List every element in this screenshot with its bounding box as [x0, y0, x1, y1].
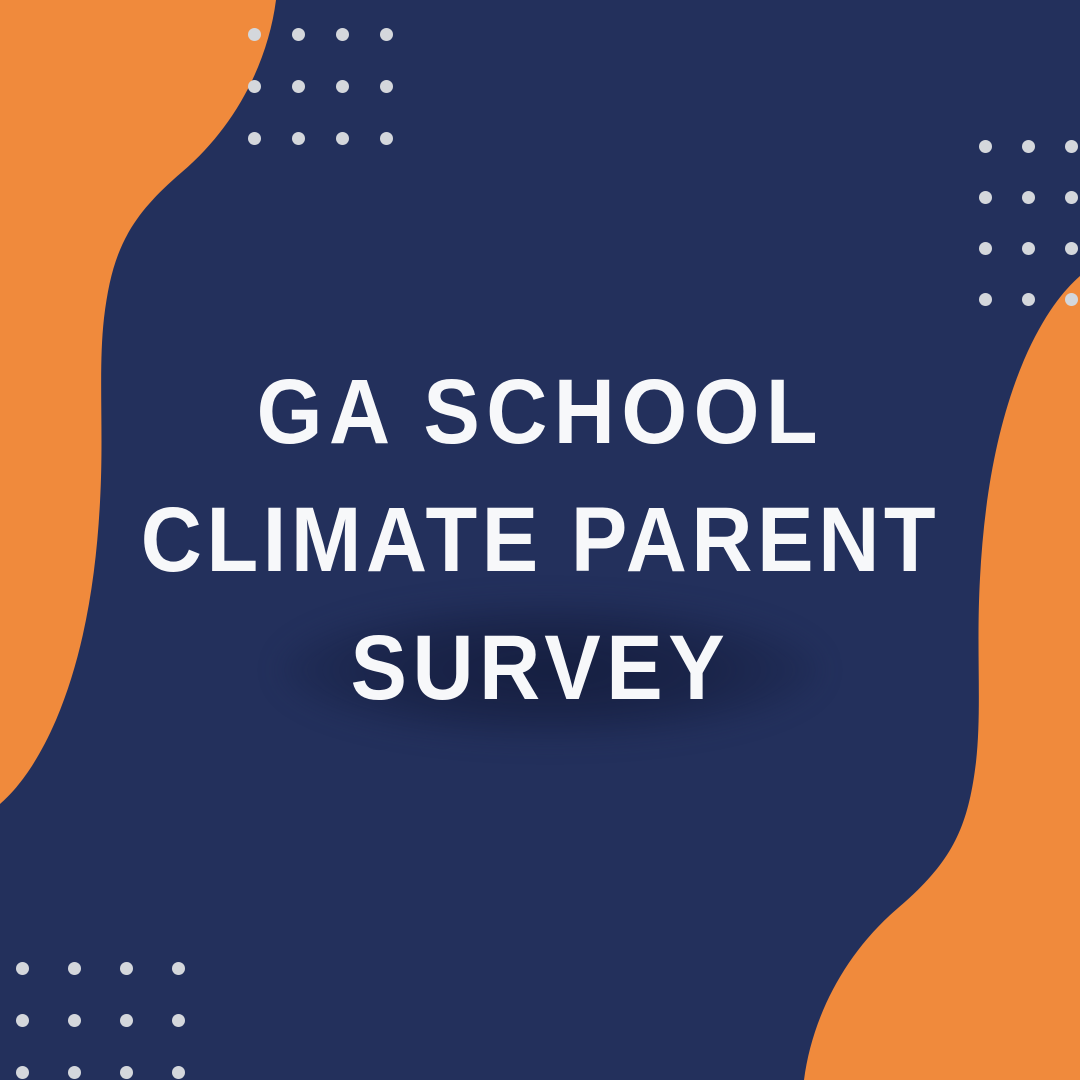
poster-canvas: GA SCHOOL CLIMATE PARENT SURVEY — [0, 0, 1080, 1080]
title-line-3: SURVEY — [350, 604, 730, 732]
title-line-1: GA SCHOOL — [256, 348, 823, 476]
poster-title: GA SCHOOL CLIMATE PARENT SURVEY — [0, 0, 1080, 1080]
title-line-2: CLIMATE PARENT — [140, 476, 939, 604]
